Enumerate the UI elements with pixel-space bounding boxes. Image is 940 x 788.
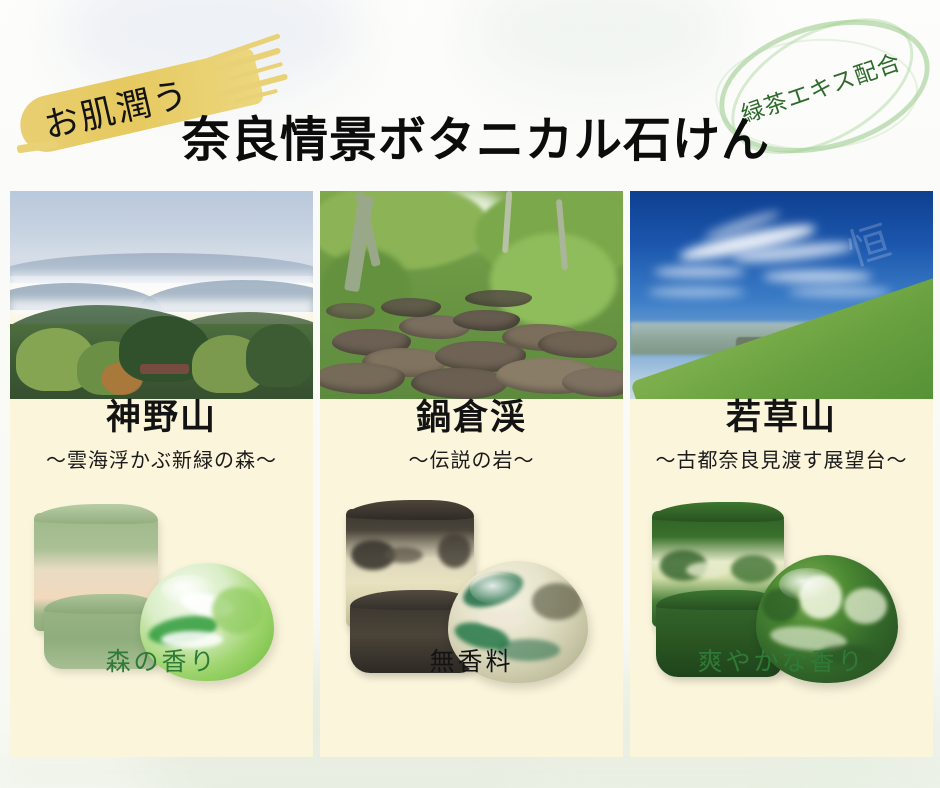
product-columns: 神野山 〜雲海浮かぶ新緑の森〜 森の香り: [0, 191, 940, 757]
kouno-yama-soap-photo: 森の香り: [10, 491, 313, 696]
banner-header: お肌潤う 緑茶エキス配合 奈良情景ボタニカル石けん: [0, 0, 940, 190]
product-card-wakakusa-yama[interactable]: 恒 若草山 〜古都奈良見渡す展望台〜: [630, 191, 933, 757]
wakakusa-yama-scent-label: 爽やかな香り: [630, 642, 933, 678]
kouno-yama-scent-label: 森の香り: [10, 642, 313, 678]
wakakusa-yama-caption: 若草山 〜古都奈良見渡す展望台〜: [630, 399, 933, 473]
page-title: 奈良情景ボタニカル石けん: [182, 116, 822, 164]
wakakusa-yama-soap-photo: 爽やかな香り: [630, 491, 933, 696]
nabekura-kei-scent-label: 無香料: [320, 642, 623, 678]
promo-banner: お肌潤う 緑茶エキス配合 奈良情景ボタニカル石けん: [0, 0, 940, 788]
kouno-yama-caption: 神野山 〜雲海浮かぶ新緑の森〜: [10, 399, 313, 473]
product-card-nabekura-kei[interactable]: 鍋倉渓 〜伝説の岩〜: [320, 191, 623, 757]
place-tagline: 〜伝説の岩〜: [320, 444, 623, 473]
nabekura-kei-soap-photo: 無香料: [320, 491, 623, 696]
place-name: 神野山: [10, 399, 313, 438]
place-name: 鍋倉渓: [320, 399, 623, 438]
nabekura-kei-caption: 鍋倉渓 〜伝説の岩〜: [320, 399, 623, 473]
wakakusa-yama-scenery-photo: 恒: [630, 191, 933, 399]
nabekura-kei-scenery-photo: [320, 191, 623, 399]
kouno-yama-scenery-photo: [10, 191, 313, 399]
product-card-kouno-yama[interactable]: 神野山 〜雲海浮かぶ新緑の森〜 森の香り: [10, 191, 313, 757]
place-tagline: 〜雲海浮かぶ新緑の森〜: [10, 444, 313, 473]
place-name: 若草山: [630, 399, 933, 438]
place-tagline: 〜古都奈良見渡す展望台〜: [630, 444, 933, 473]
